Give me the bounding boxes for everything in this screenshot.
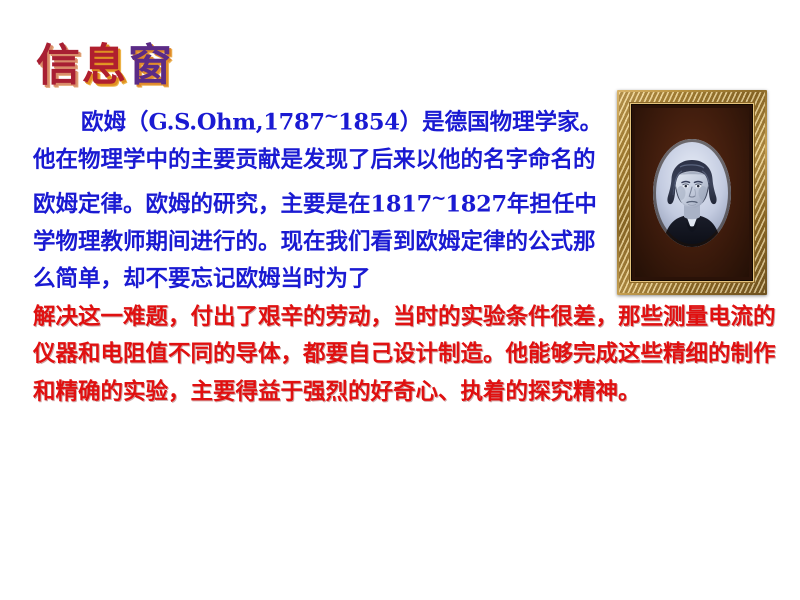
- title-char-3: 窗: [128, 40, 174, 92]
- picture-frame: [617, 90, 767, 295]
- tilde-separator-1: ~: [324, 98, 339, 136]
- blue-seg-year-1827: 1827: [445, 191, 506, 217]
- frame-mat: [635, 108, 749, 277]
- blue-seg-year-1787: 1787: [263, 110, 324, 136]
- page-title: 信息窗: [36, 40, 174, 92]
- blue-seg-year-1854: 1854: [338, 110, 399, 136]
- blue-seg-year-1817: 1817: [371, 191, 432, 217]
- portrait-image: [653, 139, 731, 247]
- blue-seg-han-1: 欧姆（: [81, 110, 149, 136]
- paragraph-blue: 欧姆（G.S.Ohm,1787~1854）是德国物理学家。他在物理学中的主要贡献…: [33, 98, 603, 299]
- title-char-1: 信: [36, 40, 82, 92]
- blue-seg-latin-name: G.S.Ohm,: [149, 110, 264, 136]
- title-char-2: 息: [82, 40, 128, 92]
- paragraph-red: 解决这一难题，付出了艰辛的劳动，当时的实验条件很差，那些测量电流的仪器和电阻值不…: [33, 299, 778, 412]
- portrait-figure: 欧姆 肖像: [617, 90, 767, 295]
- portrait-oval: [653, 139, 731, 247]
- slide-canvas: 信息窗 欧姆（G.S.Ohm,1787~1854）是德国物理学家。他在物理学中的…: [0, 0, 800, 600]
